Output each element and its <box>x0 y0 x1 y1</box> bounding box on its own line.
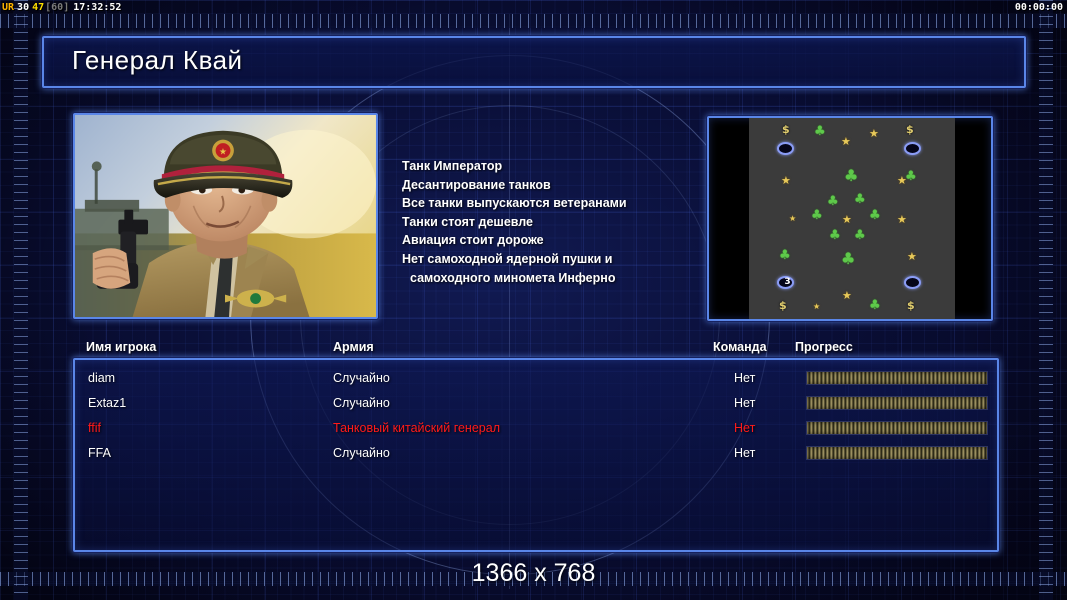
map-start-position[interactable] <box>904 142 921 155</box>
map-tree-icon: ♣ <box>814 126 826 137</box>
svg-text:★: ★ <box>219 147 227 157</box>
map-tree-icon: ♣ <box>869 300 881 311</box>
column-header-progress: Прогресс <box>795 340 853 354</box>
column-header-team: Команда <box>713 340 767 354</box>
game-lobby-screen: UR3047[60]17:32:52 00:00:00 Генерал Квай <box>0 0 1067 600</box>
column-header-army: Армия <box>333 340 374 354</box>
description-line: Танк Император <box>402 157 694 176</box>
osd-status-bar: UR3047[60]17:32:52 00:00:00 <box>0 0 1067 15</box>
map-tree-icon: ♣ <box>841 253 855 264</box>
map-star-icon: ★ <box>813 301 820 312</box>
map-supply-icon: $ <box>906 124 914 135</box>
map-start-position-label: 3 <box>779 277 796 287</box>
map-supply-icon: $ <box>779 300 787 311</box>
player-army[interactable]: Танковый китайский генерал <box>333 416 500 441</box>
general-portrait-image: ★ <box>75 115 376 318</box>
map-tree-icon: ♣ <box>779 250 791 261</box>
player-progress-fill <box>807 372 987 384</box>
player-army[interactable]: Случайно <box>333 366 390 391</box>
column-header-name: Имя игрока <box>86 340 156 354</box>
map-tree-icon: ♣ <box>844 170 858 181</box>
osd-left-group: UR3047[60]17:32:52 <box>2 0 121 15</box>
player-list-panel: diamСлучайноНетExtaz1СлучайноНетffifТанк… <box>73 358 999 552</box>
description-line: Все танки выпускаются ветеранами <box>402 194 694 213</box>
osd-fps: 30 <box>17 2 29 13</box>
description-line: Авиация стоит дороже <box>402 231 694 250</box>
map-star-icon: ★ <box>789 213 796 224</box>
map-star-icon: ★ <box>842 214 852 225</box>
osd-timer: 00:00:00 <box>1015 0 1063 15</box>
map-preview-image: ♣♣♣♣♣♣♣♣♣♣♣♣★★★★★★★★★★$$$$3 <box>749 118 955 319</box>
player-name: Extaz1 <box>88 391 126 416</box>
player-name: ffif <box>88 416 101 441</box>
map-start-position[interactable] <box>904 276 921 289</box>
map-tree-icon: ♣ <box>829 230 841 241</box>
player-row[interactable]: Extaz1СлучайноНет <box>75 391 997 416</box>
player-army[interactable]: Случайно <box>333 391 390 416</box>
player-row[interactable]: ffifТанковый китайский генералНет <box>75 416 997 441</box>
header-panel: Генерал Квай <box>42 36 1026 88</box>
map-tree-icon: ♣ <box>827 196 839 207</box>
player-row[interactable]: FFAСлучайноНет <box>75 441 997 466</box>
description-line: самоходного миномета Инферно <box>402 269 694 288</box>
ruler-right <box>1039 0 1053 600</box>
description-line: Десантирование танков <box>402 176 694 195</box>
player-army[interactable]: Случайно <box>333 441 390 466</box>
player-name: diam <box>88 366 115 391</box>
general-portrait-panel: ★ <box>73 113 378 319</box>
player-team[interactable]: Нет <box>734 441 755 466</box>
player-team[interactable]: Нет <box>734 416 755 441</box>
osd-clock: 17:32:52 <box>73 2 121 13</box>
map-star-icon: ★ <box>869 128 879 139</box>
player-team[interactable]: Нет <box>734 391 755 416</box>
map-tree-icon: ♣ <box>854 230 866 241</box>
map-start-position[interactable]: 3 <box>777 276 794 289</box>
page-title: Генерал Квай <box>72 45 243 76</box>
map-star-icon: ★ <box>907 251 917 262</box>
player-team[interactable]: Нет <box>734 366 755 391</box>
osd-tag: UR <box>2 2 14 13</box>
player-progress-fill <box>807 422 987 434</box>
description-line: Танки стоят дешевле <box>402 213 694 232</box>
player-list-headers: Имя игрока Армия Команда Прогресс <box>73 340 999 358</box>
map-star-icon: ★ <box>897 175 907 186</box>
map-supply-icon: $ <box>782 124 790 135</box>
player-progress-fill <box>807 447 987 459</box>
description-line: Нет самоходной ядерной пушки и <box>402 250 694 269</box>
map-star-icon: ★ <box>781 175 791 186</box>
ruler-left <box>14 0 28 600</box>
map-tree-icon: ♣ <box>854 194 866 205</box>
map-star-icon: ★ <box>842 290 852 301</box>
resolution-label: 1366 x 768 <box>0 559 1067 588</box>
osd-fps-alt: 47 <box>32 2 44 13</box>
general-description: Танк ИмператорДесантирование танковВсе т… <box>402 157 694 287</box>
map-tree-icon: ♣ <box>869 210 881 221</box>
player-row[interactable]: diamСлучайноНет <box>75 366 997 391</box>
player-progress-bar <box>806 446 988 460</box>
map-tree-icon: ♣ <box>811 210 823 221</box>
map-supply-icon: $ <box>907 300 915 311</box>
player-progress-fill <box>807 397 987 409</box>
map-start-position[interactable] <box>777 142 794 155</box>
osd-fps-max: [60] <box>45 2 69 13</box>
player-progress-bar <box>806 371 988 385</box>
player-name: FFA <box>88 441 111 466</box>
map-star-icon: ★ <box>841 136 851 147</box>
player-progress-bar <box>806 421 988 435</box>
map-preview-panel[interactable]: ♣♣♣♣♣♣♣♣♣♣♣♣★★★★★★★★★★$$$$3 <box>707 116 993 321</box>
ruler-top <box>0 14 1067 28</box>
map-star-icon: ★ <box>897 214 907 225</box>
player-progress-bar <box>806 396 988 410</box>
